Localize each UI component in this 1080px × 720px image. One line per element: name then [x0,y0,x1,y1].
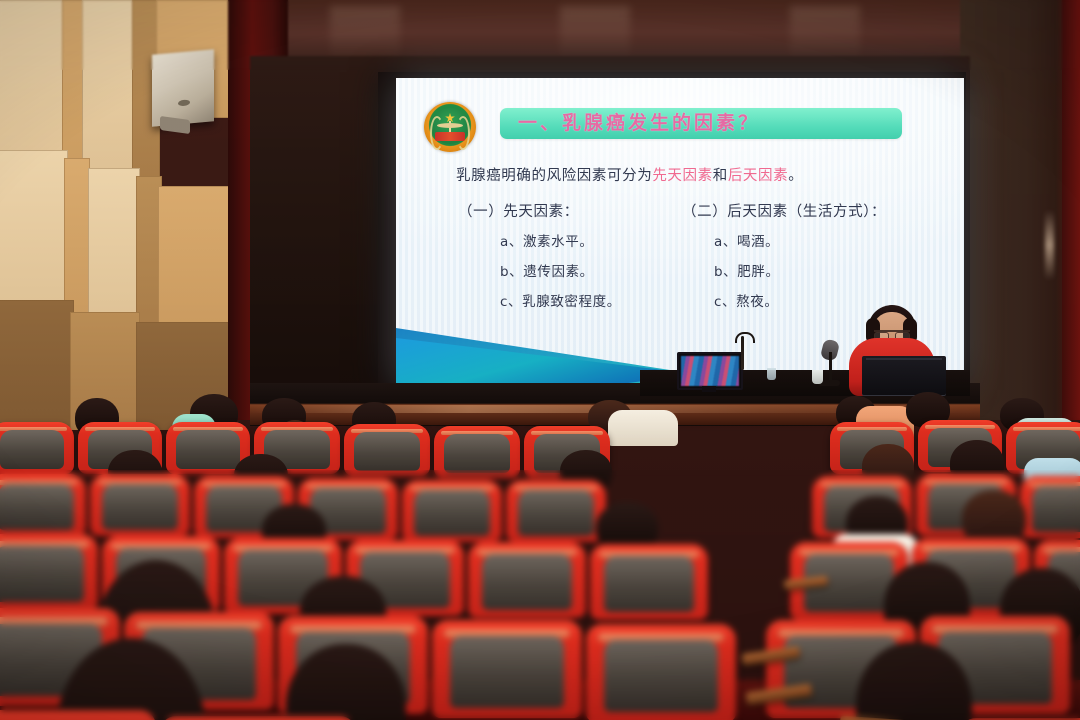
podium-monitor [677,352,743,390]
lead-highlight-2: 后天因素 [728,168,788,184]
seat[interactable] [1020,476,1080,538]
right-wall [960,0,1080,420]
seat[interactable] [0,422,74,474]
hospital-emblem-icon [424,102,476,152]
room-background: 一、乳腺癌发生的因素？ 乳腺癌明确的风险因素可分为先天因素和后天因素。 （一）先… [0,0,1080,720]
column-2-item-b: b、肥胖。 [714,260,780,280]
column-2-item-a: a、喝酒。 [714,230,779,250]
column-2-heading: （二）后天因素（生活方式）： [682,200,886,221]
lead-before: 乳腺癌明确的风险因素可分为 [456,168,652,184]
seat[interactable] [586,624,736,720]
column-2-item-c: c、熬夜。 [714,290,778,310]
lead-middle: 和 [713,168,728,184]
seat[interactable] [432,620,582,718]
seat[interactable] [590,544,708,620]
water-cup [812,370,823,384]
seat[interactable] [160,716,356,720]
column-1-item-a: a、激素水平。 [500,230,593,250]
seat[interactable] [434,426,520,478]
seat[interactable] [0,474,86,536]
seat[interactable] [402,480,502,542]
seat[interactable] [0,710,156,720]
slide-title: 一、乳腺癌发生的因素？ [518,110,898,137]
column-1-item-c: c、乳腺致密程度。 [500,290,621,310]
audience-area [0,392,1080,720]
column-1-heading: （一）先天因素： [458,200,579,221]
seat[interactable] [344,424,430,476]
lecture-hall-photo: 一、乳腺癌发生的因素？ 乳腺癌明确的风险因素可分为先天因素和后天因素。 （一）先… [0,0,1080,720]
attendee-shirt [608,410,678,446]
water-cup-2 [767,368,776,380]
presenter-laptop [862,356,946,396]
seat[interactable] [0,534,98,610]
gooseneck-mic-left-stem [741,336,744,370]
slide-lead-line: 乳腺癌明确的风险因素可分为先天因素和后天因素。 [456,164,803,185]
seat[interactable] [90,474,190,536]
lead-after: 。 [788,168,803,184]
wall-speaker-icon [152,49,214,126]
gooseneck-mic-left-icon [735,332,755,343]
seat[interactable] [506,480,606,542]
column-1-item-b: b、遗传因素。 [500,260,594,280]
lead-highlight-1: 先天因素 [652,168,712,184]
seat[interactable] [468,542,586,618]
